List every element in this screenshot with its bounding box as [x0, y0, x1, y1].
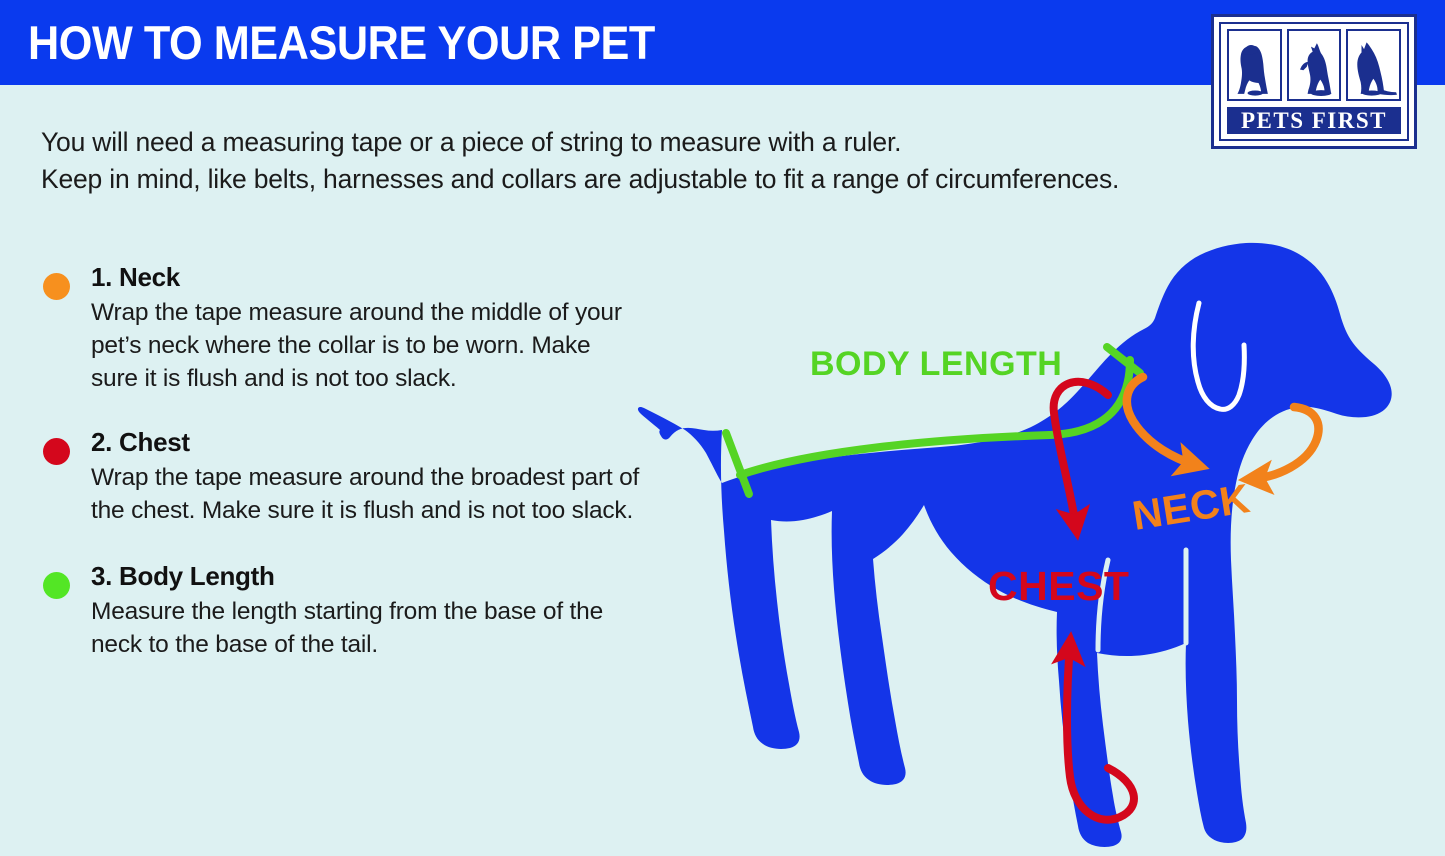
- intro-text: You will need a measuring tape or a piec…: [41, 124, 1271, 198]
- step-title-body-length: 3. Body Length: [91, 561, 642, 592]
- logo-panel-row: [1227, 29, 1401, 101]
- steps-list: 1. Neck Wrap the tape measure around the…: [42, 262, 642, 693]
- intro-line-1: You will need a measuring tape or a piec…: [41, 124, 1271, 161]
- step-title-neck: 1. Neck: [91, 262, 642, 293]
- measure-your-pet-infographic: HOW TO MEASURE YOUR PET: [0, 0, 1445, 856]
- step-body-neck: Wrap the tape measure around the middle …: [91, 296, 642, 395]
- chest-label: CHEST: [988, 563, 1129, 609]
- bullet-dot-neck: [43, 273, 70, 300]
- intro-line-2: Keep in mind, like belts, harnesses and …: [41, 161, 1271, 198]
- step-body-length: 3. Body Length Measure the length starti…: [42, 561, 642, 661]
- dog-silhouette: [638, 243, 1392, 847]
- dog-measurement-diagram: BODY LENGTH NECK CHEST: [630, 225, 1445, 856]
- shepherd-dog-silhouette-icon: [1346, 29, 1401, 101]
- body-length-label: BODY LENGTH: [810, 345, 1062, 383]
- bullet-dot-body-length: [43, 572, 70, 599]
- step-body-chest: Wrap the tape measure around the broades…: [91, 461, 642, 527]
- sitting-dog-silhouette-icon: [1227, 29, 1282, 101]
- bullet-dot-chest: [43, 438, 70, 465]
- begging-dog-silhouette-icon: [1287, 29, 1342, 101]
- page-title: HOW TO MEASURE YOUR PET: [28, 17, 655, 69]
- step-title-chest: 2. Chest: [91, 427, 642, 458]
- step-neck: 1. Neck Wrap the tape measure around the…: [42, 262, 642, 395]
- step-body-body-length: Measure the length starting from the bas…: [91, 595, 642, 661]
- step-chest: 2. Chest Wrap the tape measure around th…: [42, 427, 642, 527]
